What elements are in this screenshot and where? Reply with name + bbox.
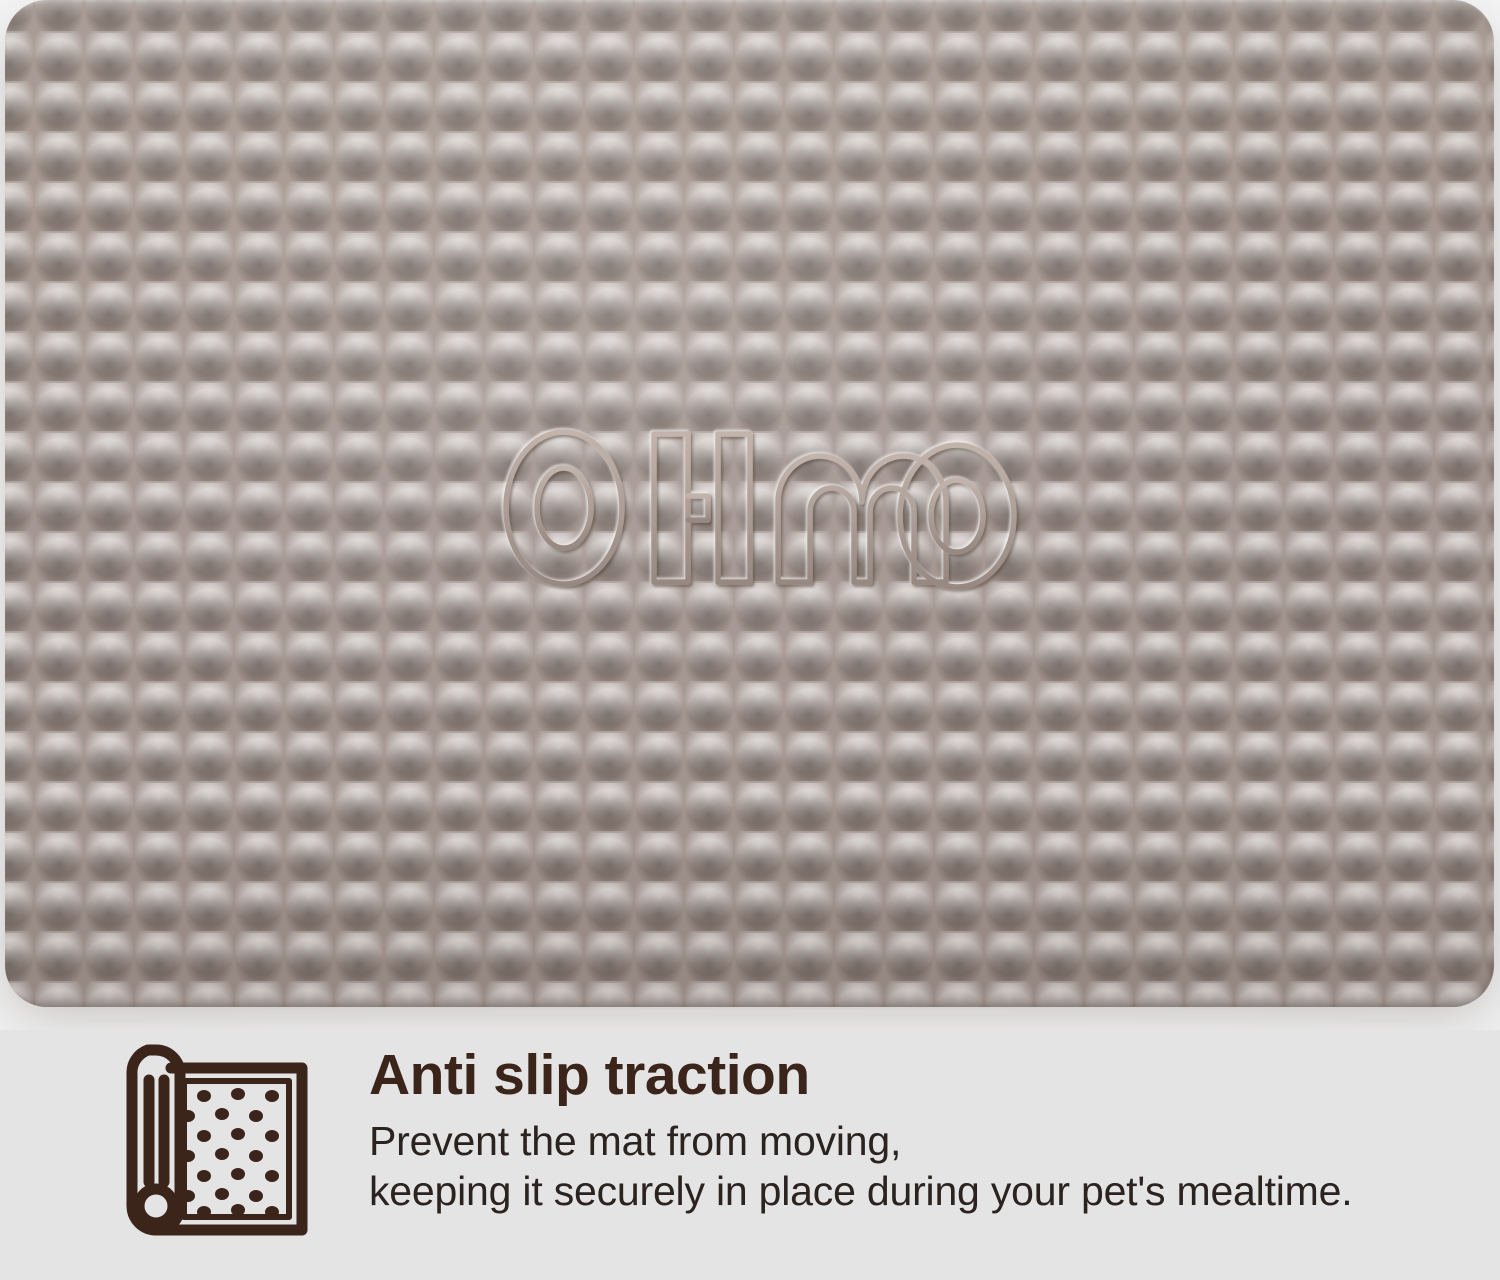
feature-description-line-1: Prevent the mat from moving, (369, 1116, 1459, 1166)
anti-slip-dot-texture (5, 0, 1494, 1007)
feature-title: Anti slip traction (369, 1043, 1459, 1107)
brand-logo-ohmo (502, 424, 1022, 592)
rolled-mat-with-dots-icon (116, 1036, 316, 1244)
product-feature-card: Anti slip traction Prevent the mat from … (0, 0, 1500, 1280)
logo-letter-h (654, 434, 750, 582)
logo-letter-o-1 (506, 432, 622, 584)
feature-description: Prevent the mat from moving, keeping it … (369, 1116, 1459, 1216)
logo-letter-m (778, 456, 946, 582)
pet-feeding-mat (5, 0, 1494, 1007)
mat-surface-sheen (5, 0, 1494, 1007)
feature-description-line-2: keeping it securely in place during your… (369, 1166, 1459, 1216)
product-photo (0, 0, 1500, 1030)
logo-letter-o-2 (900, 445, 1014, 587)
icon-dot-texture (181, 1088, 279, 1218)
feature-text-block: Anti slip traction Prevent the mat from … (369, 1043, 1459, 1216)
